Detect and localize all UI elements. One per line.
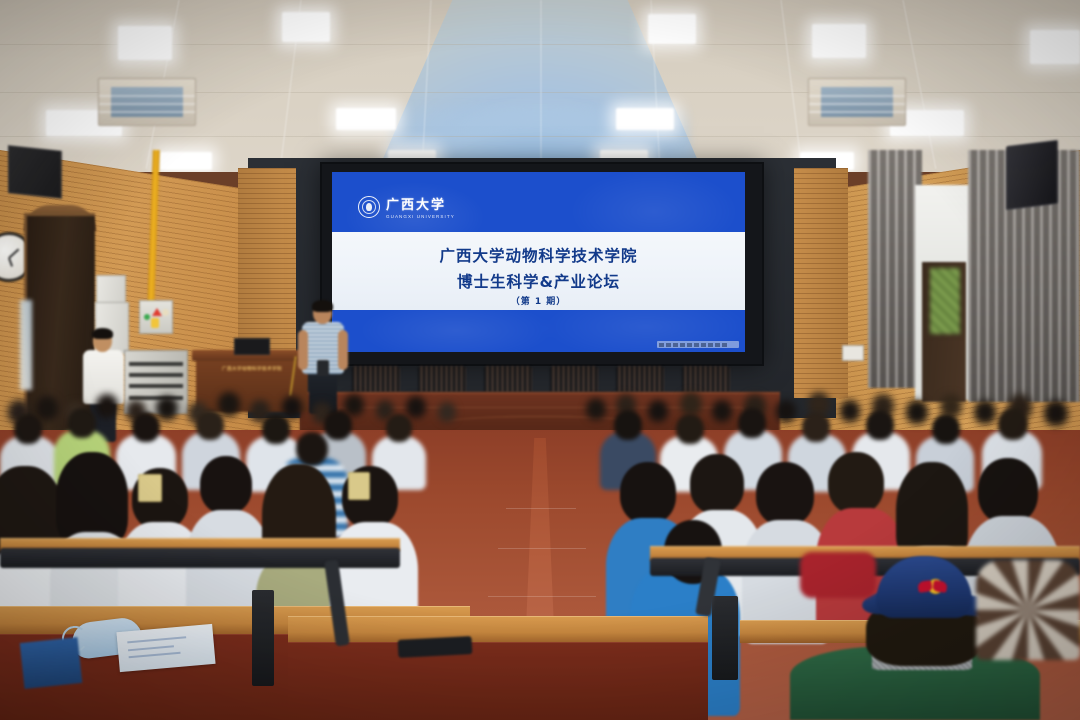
ac-vent: [808, 78, 906, 126]
hair-clip: [348, 472, 370, 500]
foreground-desk-right: [288, 616, 708, 645]
logo-chinese-name: 广西大学: [386, 194, 446, 213]
curtain-left-panel: [868, 150, 922, 388]
ceiling-light: [1030, 30, 1080, 64]
ceiling-light: [812, 24, 866, 58]
back-wall-wood-right: [794, 168, 848, 398]
projection-screen: 广西大学 GUANGXI UNIVERSITY 广西大学动物科学技术学院 博士生…: [332, 172, 745, 352]
notebook: [20, 637, 82, 689]
ac-vent: [98, 78, 196, 126]
slide-title-line1: 广西大学动物科学技术学院: [332, 244, 745, 266]
lecture-hall-photo: 广西大学 GUANGXI UNIVERSITY 广西大学动物科学技术学院 博士生…: [0, 0, 1080, 720]
standing-attendee-hair: [92, 328, 113, 339]
desk-divider: [712, 596, 738, 680]
speaker-icon: [8, 145, 62, 199]
wall-outlet[interactable]: [842, 345, 864, 361]
papers: [116, 624, 215, 672]
ceiling-light: [648, 14, 696, 44]
ceiling-light: [616, 108, 674, 130]
red-bull-logo-icon: [918, 578, 948, 596]
speaker-icon: [1006, 140, 1058, 210]
audience-patterned-shirt: [976, 560, 1080, 660]
university-seal-icon: [358, 196, 380, 218]
presenter-hair: [312, 300, 333, 312]
ceiling: [0, 0, 1080, 172]
ceiling-light: [336, 108, 396, 130]
backpack: [800, 552, 876, 598]
university-logo: 广西大学 GUANGXI UNIVERSITY: [358, 194, 455, 219]
foreground-desk-right-apron: [288, 642, 708, 720]
logo-english-name: GUANGXI UNIVERSITY: [386, 214, 455, 219]
control-panel[interactable]: [139, 300, 173, 334]
podium-monitor: [234, 338, 270, 355]
presenter-arm-right: [338, 330, 348, 370]
desk-divider: [252, 590, 274, 686]
window-greenery: [928, 266, 962, 336]
slide-title-line2: 博士生科学&产业论坛: [332, 270, 745, 292]
ceiling-light: [160, 152, 212, 170]
ceiling-light: [282, 12, 330, 42]
slide-title-line3: （第 1 期）: [332, 294, 745, 307]
ceiling-light: [118, 26, 172, 60]
slide-taskbar[interactable]: [657, 341, 739, 348]
seat-back: [0, 548, 400, 568]
hair-clip: [138, 474, 162, 502]
presenter-arm-left: [298, 330, 308, 370]
audience-head: [296, 432, 328, 466]
